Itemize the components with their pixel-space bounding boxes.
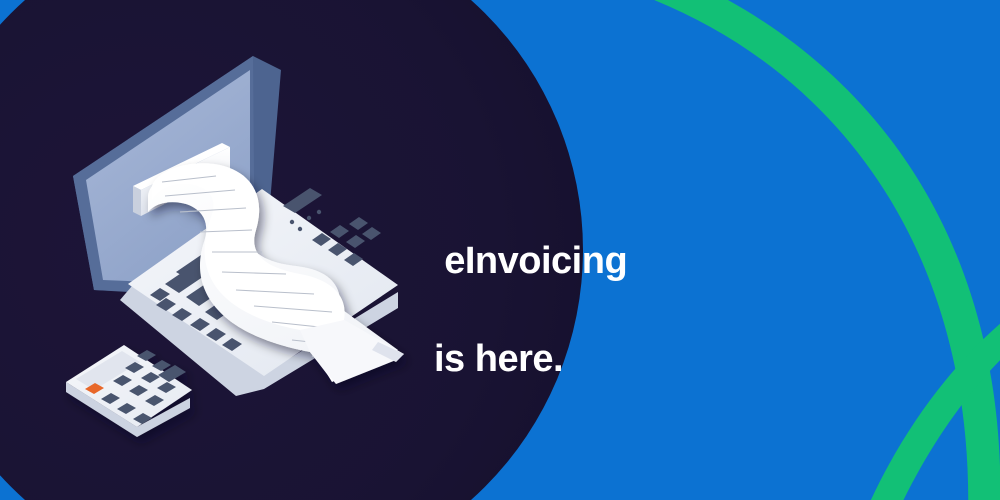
laptop-key	[346, 235, 365, 248]
laptop-key	[349, 217, 368, 230]
calculator	[66, 345, 192, 437]
laptop-key-dot	[307, 216, 311, 220]
laptop-key-dot	[290, 220, 294, 224]
laptop-key	[362, 227, 381, 240]
laptop-key	[283, 188, 322, 213]
laptop-key-dot	[317, 210, 321, 214]
einvoicing-banner: eInvoicing is here.	[0, 0, 1000, 500]
laptop-key	[330, 225, 349, 238]
isometric-laptop-illustration	[0, 0, 1000, 500]
printer-slot-face	[133, 186, 141, 216]
laptop-key-dot	[298, 227, 302, 231]
